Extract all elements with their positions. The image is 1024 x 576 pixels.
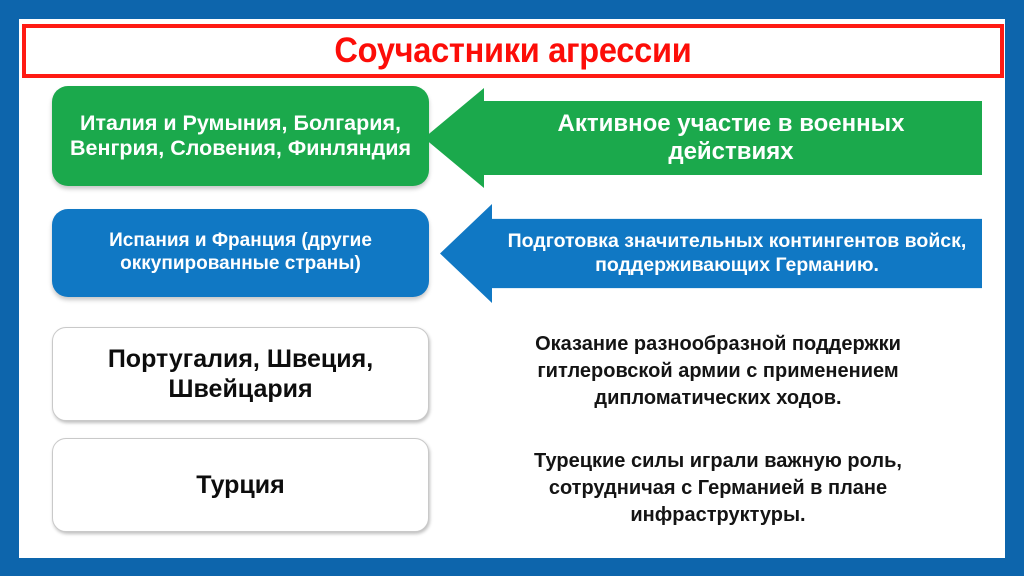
slide-title-box: Соучастники агрессии [22,24,1004,78]
countries-label-3: Португалия, Швеция, Швейцария [67,344,414,404]
description-label-4: Турецкие силы играли важную роль, сотруд… [492,448,944,528]
arrow-left-green[interactable]: Активное участие в военных действиях [424,88,982,188]
page-title: Соучастники агрессии [334,31,691,71]
description-label-3: Оказание разнообразной поддержки гитлеро… [492,331,944,411]
countries-label-4: Турция [196,470,285,500]
countries-box-green[interactable]: Италия и Румыния, Болгария, Венгрия, Сло… [52,86,429,186]
description-label-1: Активное участие в военных действиях [494,110,968,167]
arrow-left-blue[interactable]: Подготовка значительных контингентов вой… [440,204,982,303]
countries-label-1: Италия и Румыния, Болгария, Венгрия, Сло… [66,111,415,161]
countries-box-white-1[interactable]: Португалия, Швеция, Швейцария [52,327,429,421]
description-label-2: Подготовка значительных контингентов вой… [502,230,972,278]
countries-box-white-2[interactable]: Турция [52,438,429,532]
slide: Соучастники агрессии Италия и Румыния, Б… [0,0,1024,576]
countries-label-2: Испания и Франция (другие оккупированные… [66,230,415,276]
countries-box-blue[interactable]: Испания и Франция (другие оккупированные… [52,209,429,297]
